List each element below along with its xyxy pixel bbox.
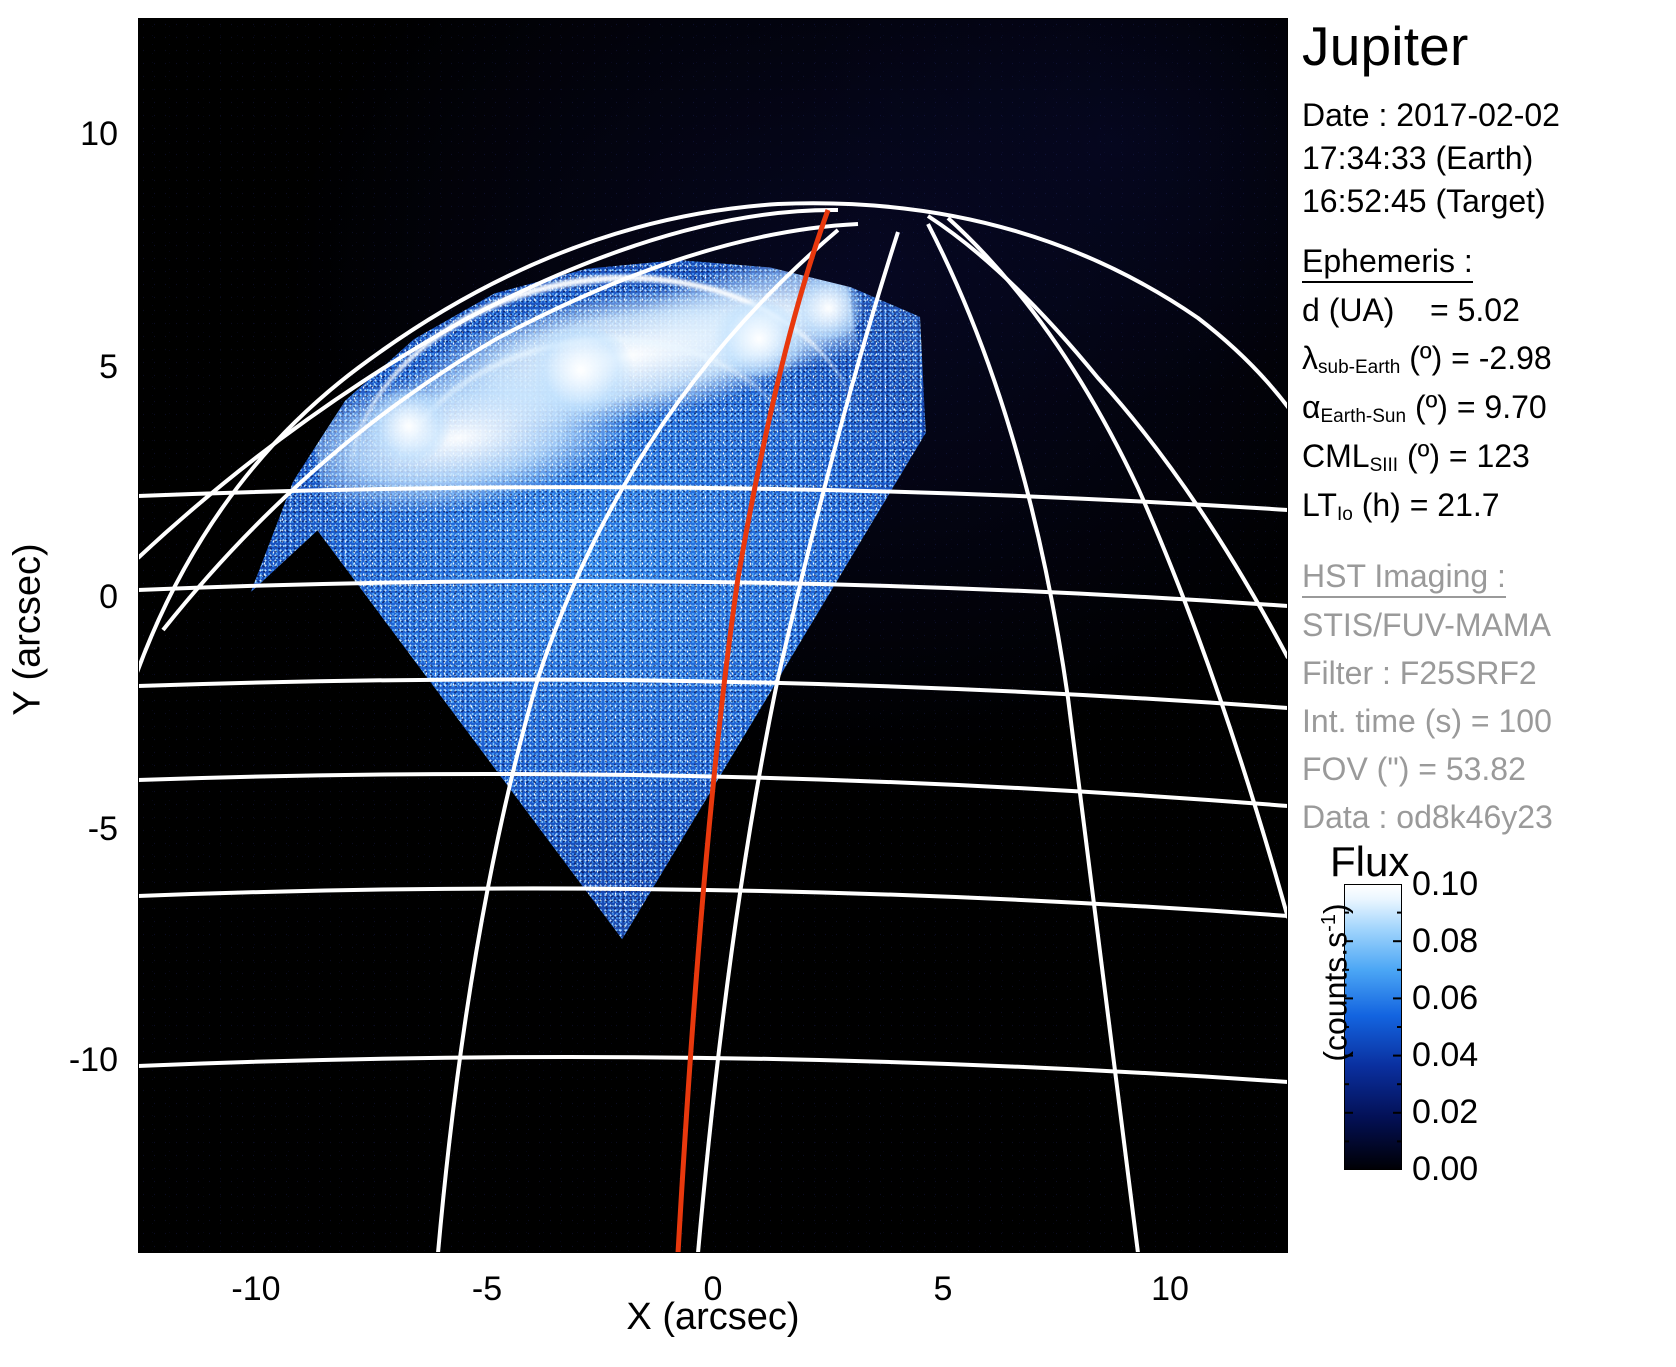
longitude-line-7 (928, 216, 1288, 658)
ephemeris-subscript: Earth-Sun (1321, 406, 1407, 427)
ephemeris-value: = 9.70 (1457, 389, 1547, 425)
central-meridian-line (678, 210, 828, 1253)
hst-int-time: Int. time (s) = 100 (1302, 703, 1552, 740)
longitude-line-2 (138, 210, 838, 558)
ephemeris-symbol: d (UA) (1302, 292, 1394, 328)
observation-time-target: 16:52:45 (Target) (1302, 183, 1546, 220)
ephemeris-subscript: sub-Earth (1318, 357, 1400, 378)
y-tick-label: 5 (28, 350, 118, 384)
ephemeris-subscript: SIII (1370, 455, 1399, 476)
ephemeris-unit: (º) (1409, 340, 1442, 376)
y-tick-label: -10 (28, 1043, 118, 1077)
ephemeris-symbol: λ (1302, 340, 1318, 376)
colorbar-tick-label: 0.10 (1412, 867, 1478, 901)
ephemeris-value: = 21.7 (1410, 487, 1500, 523)
ephemeris-unit: (º) (1415, 389, 1448, 425)
planet-limb (138, 203, 1288, 698)
colorbar-unit-label: (counts.s-1) (1318, 863, 1355, 1103)
ephemeris-symbol: α (1302, 389, 1321, 425)
aurora-image-plot (138, 18, 1288, 1253)
ephemeris-unit: (º) (1407, 438, 1440, 474)
ephemeris-symbol: CML (1302, 438, 1370, 474)
ephemeris-row-lambda: λsub-Earth (º) = -2.98 (1302, 340, 1552, 379)
longitude-line-4 (698, 232, 898, 1253)
colorbar-unit-text: (counts.s (1318, 932, 1354, 1062)
ephemeris-heading: Ephemeris : (1302, 243, 1473, 283)
latitude-line-2 (138, 581, 1288, 606)
ephemeris-value: = 123 (1449, 438, 1530, 474)
latitude-line-3 (138, 680, 1288, 708)
ephemeris-row-lt: LTIo (h) = 21.7 (1302, 487, 1500, 526)
colorbar-tick-label: 0.02 (1412, 1095, 1478, 1129)
ephemeris-row-cml: CMLSIII (º) = 123 (1302, 438, 1530, 477)
observation-time-earth: 17:34:33 (Earth) (1302, 140, 1533, 177)
page-title: Jupiter (1302, 14, 1468, 78)
ephemeris-value: = 5.02 (1430, 292, 1520, 328)
x-axis-title: X (arcsec) (0, 1296, 1426, 1339)
ephemeris-value: = -2.98 (1451, 340, 1552, 376)
longitude-line-5 (928, 224, 1138, 1253)
ephemeris-unit: (h) (1362, 487, 1401, 523)
colorbar-unit-exponent: -1 (1318, 914, 1340, 932)
observation-date: Date : 2017-02-02 (1302, 97, 1560, 134)
colorbar-tick-label: 0.08 (1412, 924, 1478, 958)
hst-fov: FOV (") = 53.82 (1302, 751, 1526, 788)
planet-graticule (138, 18, 1288, 1253)
ephemeris-subscript: Io (1337, 504, 1353, 525)
hst-filter: Filter : F25SRF2 (1302, 655, 1537, 692)
longitude-line-1 (163, 224, 858, 630)
ephemeris-symbol: LT (1302, 487, 1337, 523)
hst-instrument: STIS/FUV-MAMA (1302, 607, 1551, 644)
ephemeris-row-alpha: αEarth-Sun (º) = 9.70 (1302, 389, 1547, 428)
colorbar-tick-label: 0.04 (1412, 1038, 1478, 1072)
ephemeris-heading-text: Ephemeris : (1302, 243, 1473, 283)
y-tick-label: -5 (28, 812, 118, 846)
ephemeris-row-distance: d (UA) = 5.02 (1302, 292, 1520, 329)
y-tick-label: 10 (28, 117, 118, 151)
colorbar-unit-close: ) (1318, 903, 1354, 914)
latitude-line-1 (138, 487, 1288, 510)
hst-imaging-heading: HST Imaging : (1302, 558, 1506, 598)
hst-data-id: Data : od8k46y23 (1302, 799, 1553, 836)
colorbar-tick-label: 0.06 (1412, 981, 1478, 1015)
colorbar-tick-label: 0.00 (1412, 1152, 1478, 1186)
y-axis-title: Y (arcsec) (7, 470, 50, 790)
latitude-line-5 (138, 888, 1288, 916)
hst-imaging-heading-text: HST Imaging : (1302, 558, 1506, 598)
